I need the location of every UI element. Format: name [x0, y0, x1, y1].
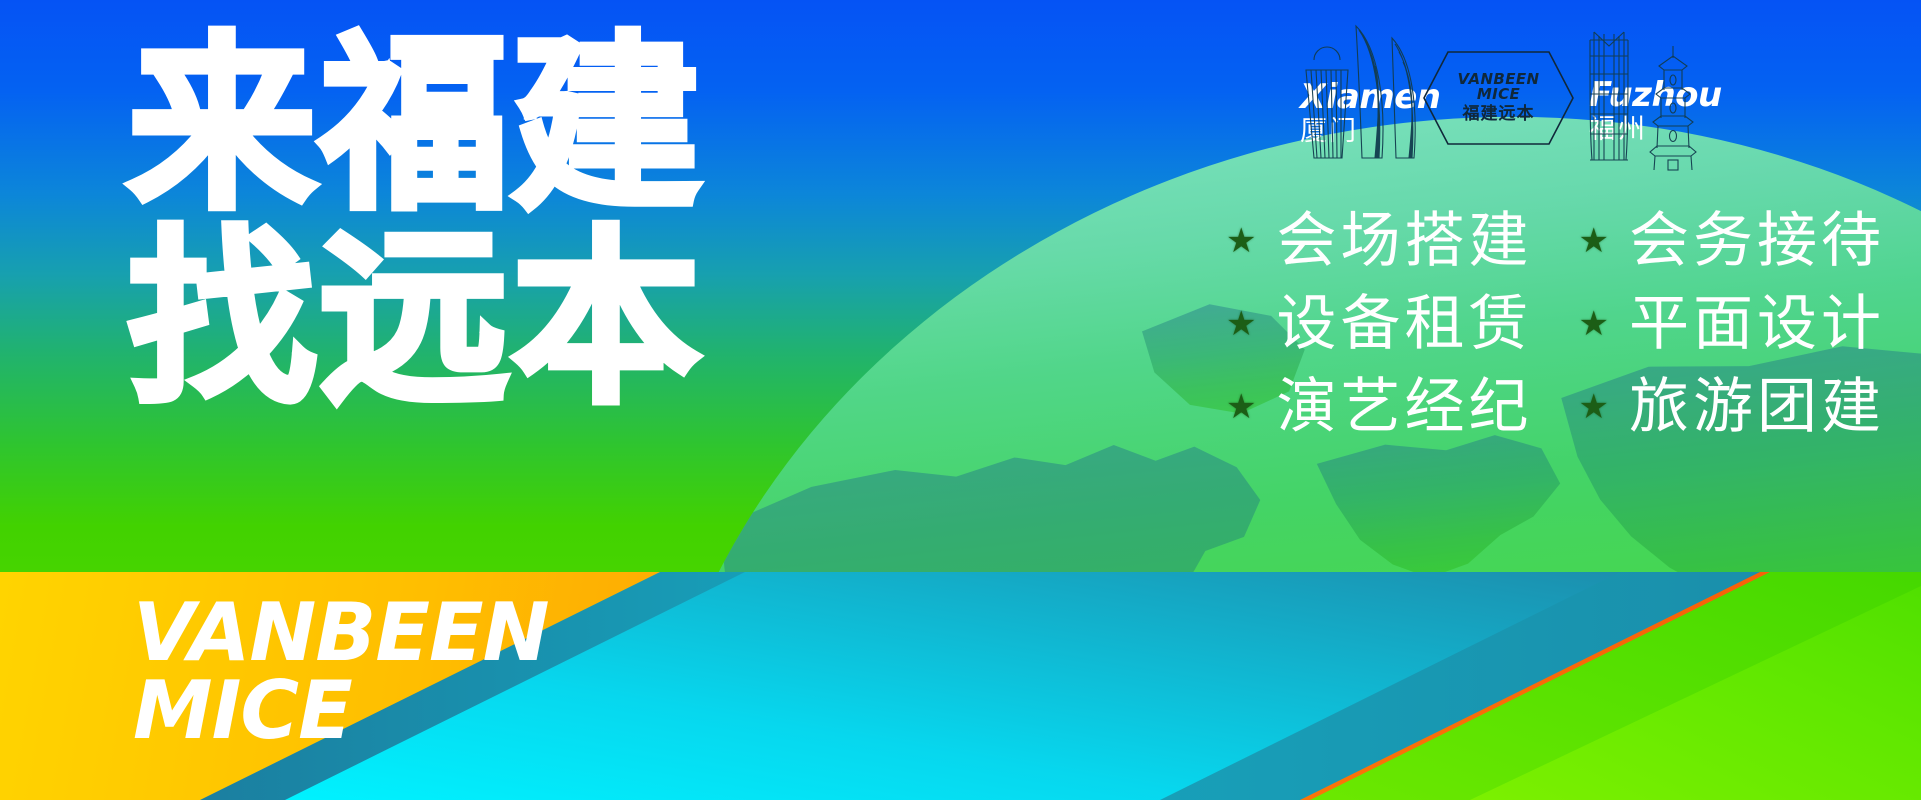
service-item-2: ★ 设备租赁: [1226, 289, 1532, 360]
wordmark-line-1: VANBEEN: [133, 594, 549, 672]
service-label: 会务接待: [1629, 206, 1885, 277]
star-icon: ★: [1579, 224, 1609, 258]
service-item-5: ★ 旅游团建: [1579, 372, 1885, 443]
star-icon: ★: [1226, 307, 1256, 341]
star-icon: ★: [1226, 224, 1256, 258]
service-label: 旅游团建: [1629, 372, 1885, 443]
service-item-4: ★ 演艺经纪: [1226, 372, 1532, 443]
headline-line-1: 来福建: [128, 34, 704, 218]
city-logo-strip: Xiamen 厦门 VANBEEN MICE 福建远本: [1300, 8, 1720, 178]
service-item-0: ★ 会场搭建: [1226, 206, 1532, 277]
page-title: 来福建 找远本: [128, 34, 704, 412]
fuzhou-towers-icon: [1572, 10, 1722, 172]
banner-bottom-band: VANBEEN MICE: [0, 572, 1921, 800]
wordmark-line-2: MICE: [133, 672, 549, 750]
star-icon: ★: [1579, 307, 1609, 341]
banner-main-panel: 来福建 找远本 ★ 会场搭建 ★ 会务接待 ★ 设备租赁 ★ 平面设计 ★: [0, 0, 1921, 572]
headline-line-2: 找远本: [128, 228, 704, 412]
badge-en-line-2: MICE: [1477, 87, 1520, 103]
xiamen-towers-icon: [1292, 8, 1422, 168]
star-icon: ★: [1226, 390, 1256, 424]
vanbeen-mice-wordmark: VANBEEN MICE: [133, 594, 549, 751]
service-item-1: ★ 会务接待: [1579, 206, 1885, 277]
promo-banner: 来福建 找远本 ★ 会场搭建 ★ 会务接待 ★ 设备租赁 ★ 平面设计 ★: [0, 0, 1921, 800]
services-list: ★ 会场搭建 ★ 会务接待 ★ 设备租赁 ★ 平面设计 ★ 演艺经纪 ★ 旅游团…: [1226, 206, 1885, 442]
service-label: 设备租赁: [1277, 289, 1533, 360]
vanbeen-mice-badge: VANBEEN MICE 福建远本: [1429, 56, 1568, 140]
service-label: 会场搭建: [1277, 206, 1533, 277]
service-label: 平面设计: [1629, 289, 1885, 360]
service-item-3: ★ 平面设计: [1579, 289, 1885, 360]
badge-cn: 福建远本: [1463, 104, 1535, 124]
service-label: 演艺经纪: [1277, 372, 1533, 443]
star-icon: ★: [1579, 390, 1609, 424]
